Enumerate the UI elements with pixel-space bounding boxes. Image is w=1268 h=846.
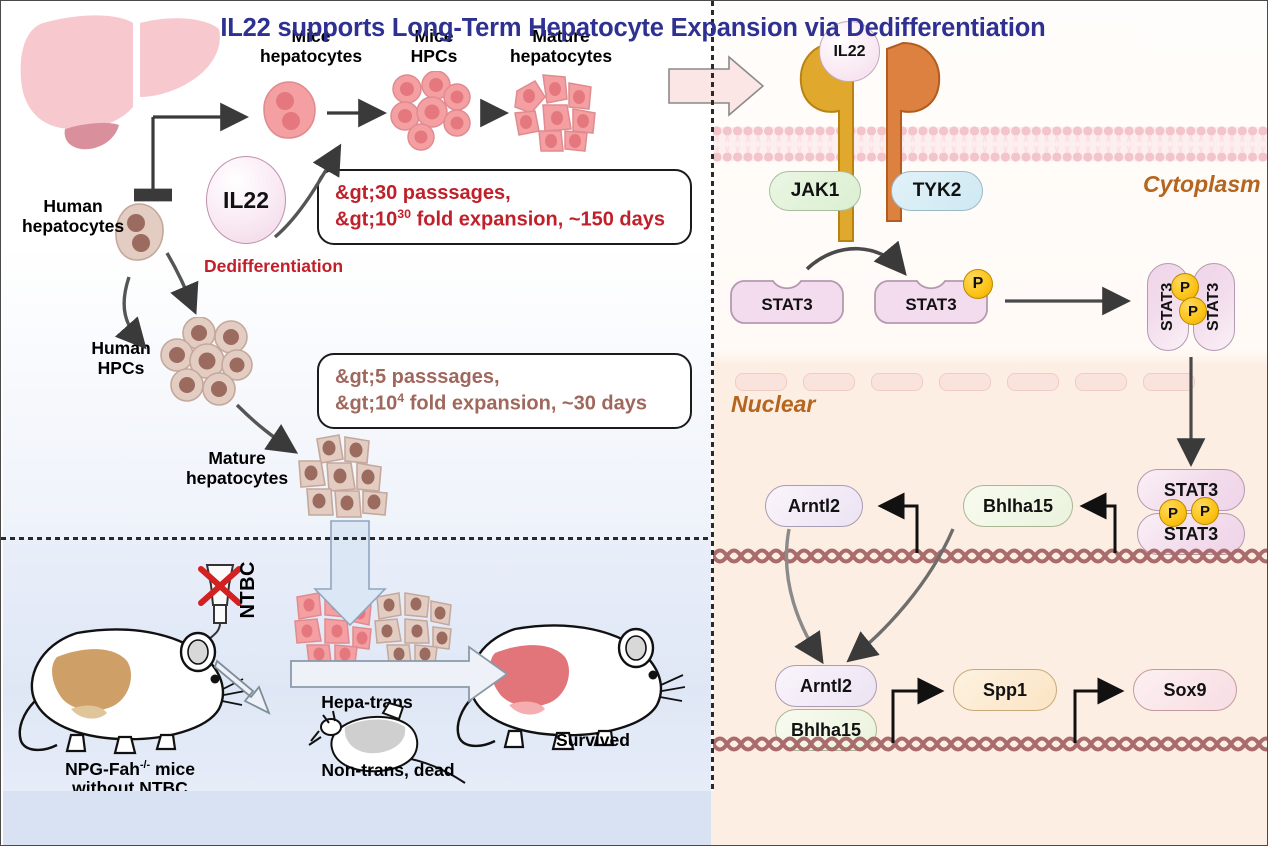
mature-human-hepatocyte-cluster — [293, 431, 397, 525]
banner-right-bg — [711, 791, 1267, 845]
callout-mice-line2: &gt;1030 fold expansion, ~150 days — [335, 207, 674, 233]
callout-human-expansion: &gt;5 passsages, &gt;104 fold expansion,… — [317, 353, 692, 429]
panel-divider-vertical — [711, 1, 714, 791]
stat3-phosphorylated-label: STAT3 — [873, 295, 989, 315]
label-dedifferentiation: Dedifferentiation — [204, 257, 394, 277]
label-survived: Survived — [513, 731, 673, 751]
callout-human-line2: &gt;104 fold expansion, ~30 days — [335, 391, 674, 417]
bhlha15-upper-box: Bhlha15 — [963, 485, 1073, 527]
phospho-group-dimer-2: P — [1179, 297, 1207, 325]
human-hpc-cluster — [157, 317, 255, 409]
dna-strand-upper — [713, 541, 1267, 571]
callout-mice-expansion: &gt;30 passsages, &gt;1030 fold expansio… — [317, 169, 692, 245]
nuclear-stat3-top: STAT3 — [1137, 469, 1245, 511]
transplant-human-cells — [369, 589, 457, 667]
jak1-protein: JAK1 — [769, 171, 861, 211]
banner-title: IL22 supports Long-Term Hepatocyte Expan… — [1, 1, 1265, 55]
spp1-box: Spp1 — [953, 669, 1057, 711]
il22-molecule-left: IL22 — [206, 156, 286, 244]
phospho-group-monomer: P — [963, 269, 993, 299]
stat3-unphosphorylated-label: STAT3 — [729, 295, 845, 315]
banner-bar — [3, 791, 1267, 845]
banner-left-bg — [3, 791, 711, 845]
arntl2-upper-box: Arntl2 — [765, 485, 863, 527]
label-non-trans-dead: Non-trans, dead — [283, 761, 493, 781]
nuclear-phospho-2: P — [1191, 497, 1219, 525]
label-nuclear: Nuclear — [731, 391, 815, 418]
arntl2-lower-box: Arntl2 — [775, 665, 877, 707]
mice-hpc-cluster — [389, 71, 473, 151]
callout-mice-line1: &gt;30 passsages, — [335, 181, 674, 207]
mouse-npg-fah-sick — [15, 617, 245, 757]
mouse-hepatocyte-cell — [259, 79, 321, 141]
transplant-mouse-cells — [289, 589, 377, 667]
sox9-box: Sox9 — [1133, 669, 1237, 711]
panel-divider-horizontal — [1, 537, 711, 540]
label-cytoplasm: Cytoplasm — [1143, 171, 1261, 198]
figure-root: IL22 Mice hepatocytes Mice HPCs Mature h… — [0, 0, 1268, 846]
label-mature-hepatocytes-bottom: Mature hepatocytes — [177, 449, 297, 488]
nuclear-phospho-1: P — [1159, 499, 1187, 527]
label-ntbc: NTBC — [237, 561, 260, 619]
mature-mouse-hepatocyte-cluster — [509, 69, 605, 155]
nuclear-membrane — [713, 371, 1267, 393]
callout-human-line1: &gt;5 passsages, — [335, 365, 674, 391]
label-human-hepatocytes: Human hepatocytes — [13, 197, 133, 236]
dna-strand-lower — [713, 729, 1267, 759]
tyk2-protein: TYK2 — [891, 171, 983, 211]
label-human-hpcs: Human HPCs — [79, 339, 163, 378]
